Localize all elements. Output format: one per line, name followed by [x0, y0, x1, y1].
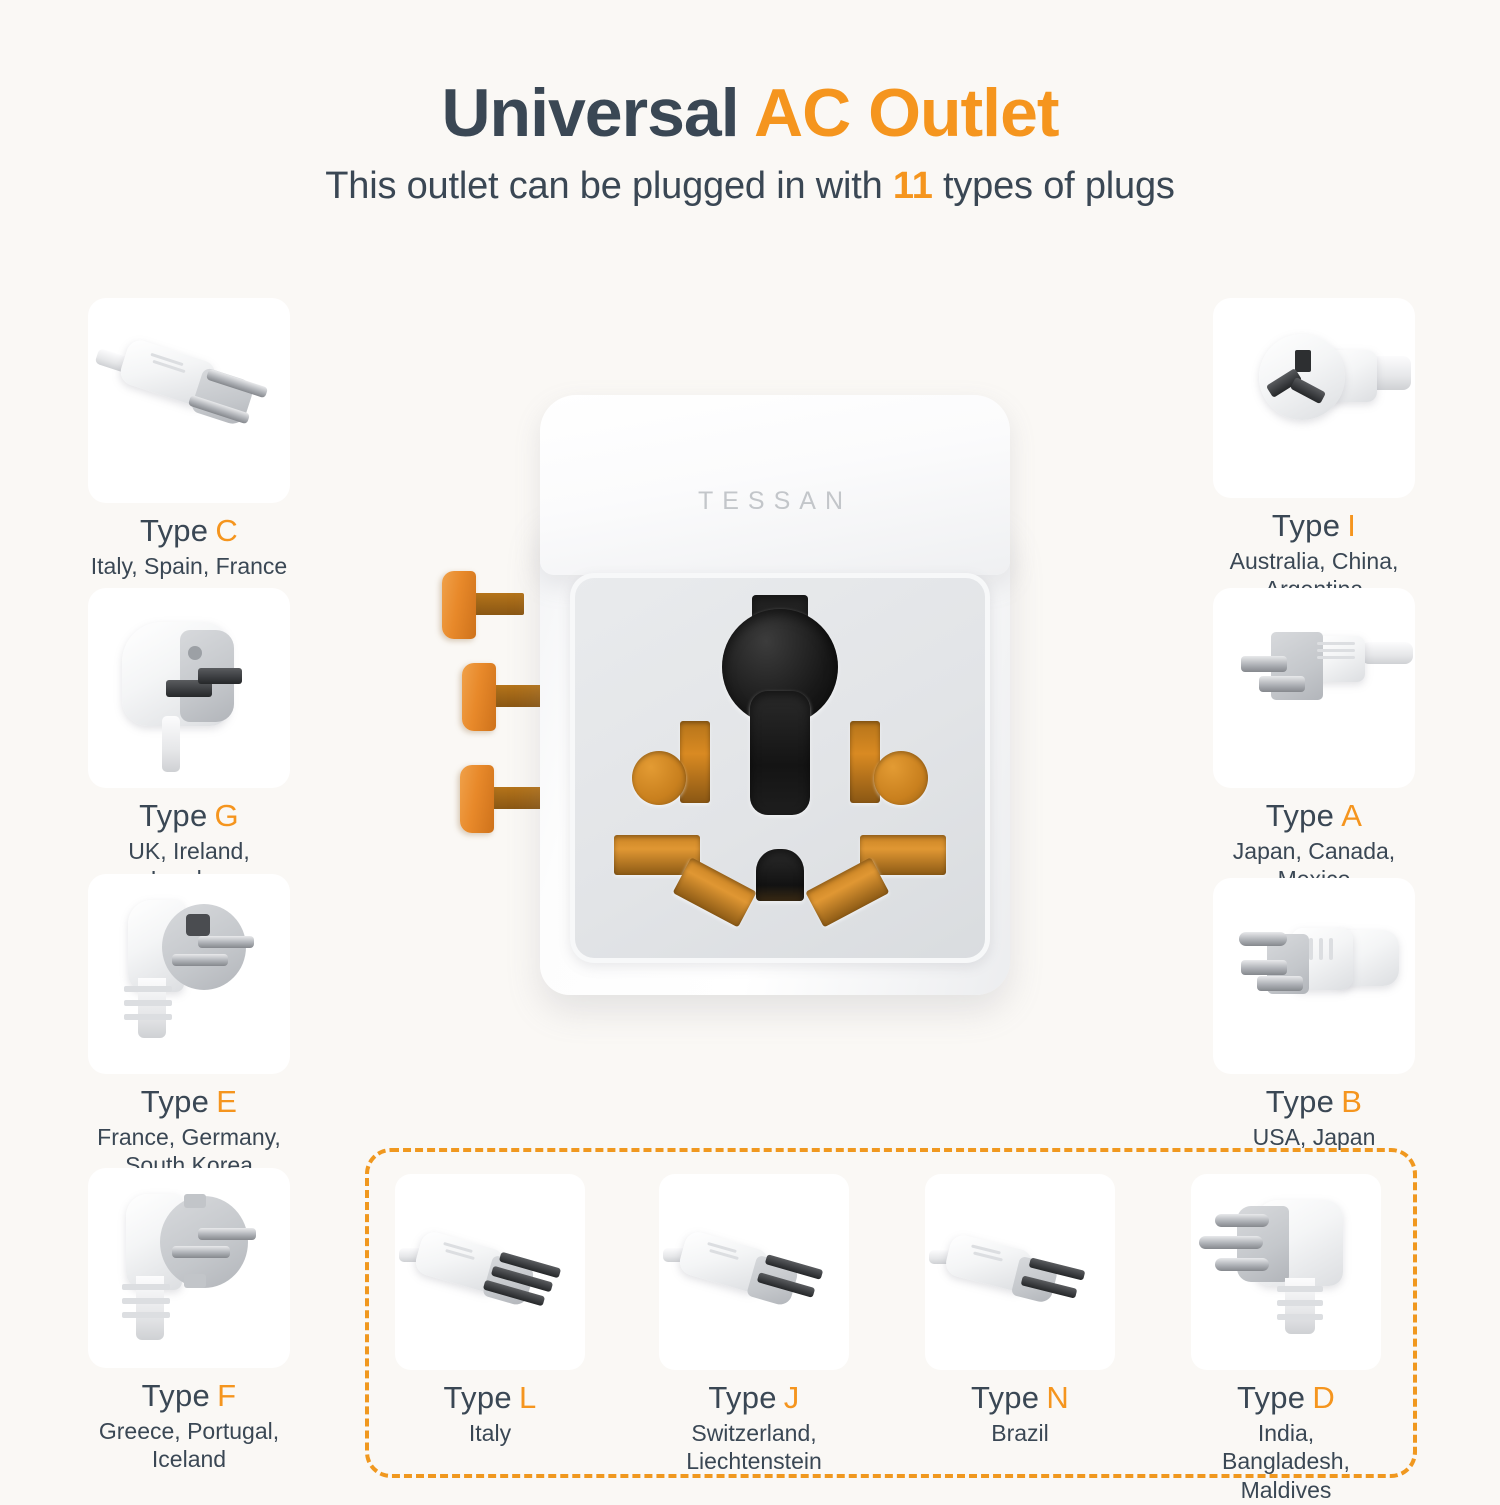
- type-letter: A: [1341, 798, 1362, 833]
- country-line: Australia, China,: [1213, 547, 1415, 576]
- plug-rib-icon: [1319, 938, 1323, 960]
- plug-image-type-a: [1213, 588, 1415, 788]
- slider-head-icon: [442, 571, 476, 639]
- subtitle-prefix: This outlet can be plugged in with: [325, 165, 882, 207]
- socket-contact-left-bar: [680, 721, 710, 803]
- universal-adapter-product-image: TESSAN: [440, 395, 1030, 1025]
- page-subtitle: This outlet can be plugged in with 11 ty…: [0, 165, 1500, 208]
- page-title: Universal AC Outlet: [0, 78, 1500, 149]
- country-line: Greece, Portugal,: [88, 1417, 290, 1446]
- plug-pin-icon: [1259, 676, 1305, 692]
- plug-rib-icon: [1317, 649, 1355, 652]
- plug-rib-icon: [1309, 938, 1313, 960]
- plug-earth-clip-icon: [184, 1274, 206, 1288]
- plug-cord-icon: [162, 716, 180, 772]
- socket-contact-left-round: [632, 751, 686, 805]
- plug-type-label: TypeB: [1213, 1084, 1415, 1120]
- country-line: Italy, Spain, France: [88, 552, 290, 581]
- type-letter: F: [217, 1378, 236, 1413]
- plug-rib-icon: [124, 1000, 172, 1006]
- country-line: Liechtenstein: [659, 1447, 849, 1476]
- plug-earth-clip-icon: [184, 1194, 206, 1208]
- country-line: Italy: [395, 1419, 585, 1448]
- type-word: Type: [141, 1084, 209, 1119]
- plug-image-type-c: [88, 298, 290, 503]
- plug-countries: Italy, Spain, France: [88, 552, 290, 581]
- plug-card-type-d[interactable]: TypeD India, Bangladesh, Maldives: [1191, 1174, 1381, 1505]
- plug-type-label: TypeF: [88, 1378, 290, 1414]
- plug-caption-type-b: TypeB USA, Japan: [1213, 1084, 1415, 1151]
- socket-center-slot: [750, 691, 810, 815]
- plug-card-type-f[interactable]: TypeF Greece, Portugal, Iceland: [88, 1168, 290, 1474]
- plug-pin-icon: [1215, 1258, 1269, 1271]
- plug-rib-icon: [122, 1298, 170, 1304]
- plug-type-label: TypeL: [395, 1380, 585, 1416]
- type-letter: G: [215, 798, 239, 833]
- subtitle-suffix: types of plugs: [943, 165, 1175, 207]
- type-word: Type: [139, 798, 207, 833]
- country-line: Brazil: [925, 1419, 1115, 1448]
- plug-caption-type-f: TypeF Greece, Portugal, Iceland: [88, 1378, 290, 1474]
- plug-countries: Brazil: [925, 1419, 1115, 1448]
- slider-head-icon: [462, 663, 496, 731]
- plug-type-label: TypeN: [925, 1380, 1115, 1416]
- type-word: Type: [142, 1378, 210, 1413]
- plug-type-label: TypeE: [88, 1084, 290, 1120]
- plug-countries: Greece, Portugal, Iceland: [88, 1417, 290, 1475]
- country-line: Iceland: [88, 1445, 290, 1474]
- adapter-top-shell: [540, 395, 1010, 575]
- plug-type-label: TypeJ: [659, 1380, 849, 1416]
- plug-type-label: TypeA: [1213, 798, 1415, 834]
- plug-image-type-l: [395, 1174, 585, 1370]
- plug-caption-type-l: TypeL Italy: [395, 1380, 585, 1447]
- plug-card-type-a[interactable]: TypeA Japan, Canada, Mexico: [1213, 588, 1415, 894]
- type-word: Type: [1237, 1380, 1305, 1415]
- brand-logo-tessan: TESSAN: [540, 487, 1010, 516]
- country-line: India, Bangladesh,: [1191, 1419, 1381, 1477]
- type-word: Type: [140, 513, 208, 548]
- plug-caption-type-j: TypeJ Switzerland, Liechtenstein: [659, 1380, 849, 1476]
- plug-card-type-j[interactable]: TypeJ Switzerland, Liechtenstein: [659, 1174, 849, 1476]
- plug-countries: Switzerland, Liechtenstein: [659, 1419, 849, 1477]
- type-word: Type: [971, 1380, 1039, 1415]
- slider-stem-icon: [490, 787, 542, 809]
- plug-type-label: TypeG: [88, 798, 290, 834]
- type-word: Type: [444, 1380, 512, 1415]
- socket-contact-lower-left-b: [673, 857, 757, 927]
- plug-pin-icon: [172, 954, 228, 966]
- type-letter: J: [784, 1380, 800, 1415]
- plug-pin-icon: [198, 936, 254, 948]
- type-letter: L: [519, 1380, 537, 1415]
- plug-pin-icon: [1215, 1214, 1269, 1227]
- plug-image-type-n: [925, 1174, 1115, 1370]
- plug-image-type-i: [1213, 298, 1415, 498]
- title-part-ac-outlet: AC Outlet: [754, 75, 1059, 151]
- type-word: Type: [1272, 508, 1340, 543]
- plug-rib-icon: [1277, 1314, 1323, 1320]
- plug-rib-icon: [1277, 1300, 1323, 1306]
- plug-rib-icon: [124, 1014, 172, 1020]
- plug-card-type-e[interactable]: TypeE France, Germany, South Korea: [88, 874, 290, 1180]
- plug-face-icon: [1259, 334, 1345, 420]
- type-letter: C: [215, 513, 238, 548]
- title-part-universal: Universal: [441, 75, 738, 151]
- plug-rib-icon: [1317, 656, 1355, 659]
- plug-image-type-j: [659, 1174, 849, 1370]
- plug-image-type-g: [88, 588, 290, 788]
- type-word: Type: [708, 1380, 776, 1415]
- highlighted-plug-group: TypeL Italy TypeJ Switzerland, Liechtens…: [365, 1148, 1417, 1478]
- plug-pin-icon: [1257, 976, 1303, 991]
- type-word: Type: [1266, 1084, 1334, 1119]
- plug-rib-icon: [1277, 1286, 1323, 1292]
- plug-card-type-c[interactable]: TypeC Italy, Spain, France: [88, 298, 290, 580]
- plug-card-type-i[interactable]: TypeI Australia, China, Argentina: [1213, 298, 1415, 604]
- plug-screw-icon: [188, 646, 202, 660]
- socket-bottom-hole: [756, 849, 804, 901]
- plug-countries: Italy: [395, 1419, 585, 1448]
- plug-caption-type-e: TypeE France, Germany, South Korea: [88, 1084, 290, 1180]
- country-line: Japan, Canada,: [1213, 837, 1415, 866]
- plug-image-type-e: [88, 874, 290, 1074]
- type-letter: D: [1312, 1380, 1335, 1415]
- socket-contact-right-bar: [850, 721, 880, 803]
- plug-ground-pin-icon: [1239, 932, 1287, 946]
- plug-pin-icon: [1241, 960, 1287, 975]
- plug-rib-icon: [122, 1284, 170, 1290]
- plug-pin-icon: [1199, 1236, 1263, 1249]
- plug-caption-type-d: TypeD India, Bangladesh, Maldives: [1191, 1380, 1381, 1505]
- type-letter: E: [216, 1084, 237, 1119]
- plug-pin-icon: [172, 1246, 230, 1258]
- slider-head-icon: [460, 765, 494, 833]
- plug-type-label: TypeC: [88, 513, 290, 549]
- subtitle-plug-count: 11: [893, 165, 933, 207]
- plug-caption-type-n: TypeN Brazil: [925, 1380, 1115, 1447]
- socket-contact-right-round: [874, 751, 928, 805]
- type-letter: B: [1341, 1084, 1362, 1119]
- plug-card-type-n[interactable]: TypeN Brazil: [925, 1174, 1115, 1447]
- plug-pin-icon: [1241, 656, 1287, 672]
- slider-stem-icon: [492, 685, 544, 707]
- plug-card-type-b[interactable]: TypeB USA, Japan: [1213, 878, 1415, 1151]
- country-line: Maldives: [1191, 1476, 1381, 1505]
- plug-pin-icon: [198, 668, 242, 684]
- adapter-socket-face: [570, 573, 990, 963]
- plug-rib-icon: [1329, 938, 1333, 960]
- plug-countries: India, Bangladesh, Maldives: [1191, 1419, 1381, 1505]
- plug-image-type-b: [1213, 878, 1415, 1074]
- plug-image-type-d: [1191, 1174, 1381, 1370]
- plug-cord-icon: [1361, 642, 1413, 664]
- type-letter: I: [1347, 508, 1356, 543]
- plug-card-type-g[interactable]: TypeG UK, Ireland, London: [88, 588, 290, 894]
- plug-rib-icon: [1317, 642, 1355, 645]
- page-header: Universal AC Outlet This outlet can be p…: [0, 78, 1500, 208]
- country-line: Switzerland,: [659, 1419, 849, 1448]
- slider-stem-icon: [472, 593, 524, 615]
- plug-caption-type-c: TypeC Italy, Spain, France: [88, 513, 290, 580]
- plug-earth-socket-icon: [186, 914, 210, 936]
- type-letter: N: [1046, 1380, 1069, 1415]
- plug-type-label: TypeD: [1191, 1380, 1381, 1416]
- plug-rib-icon: [122, 1312, 170, 1318]
- plug-card-type-l[interactable]: TypeL Italy: [395, 1174, 585, 1447]
- plug-rib-icon: [124, 986, 172, 992]
- plug-pin-icon: [198, 1228, 256, 1240]
- plug-type-label: TypeI: [1213, 508, 1415, 544]
- plug-earth-pin-icon: [1295, 350, 1311, 372]
- country-line: France, Germany,: [88, 1123, 290, 1152]
- type-word: Type: [1266, 798, 1334, 833]
- plug-image-type-f: [88, 1168, 290, 1368]
